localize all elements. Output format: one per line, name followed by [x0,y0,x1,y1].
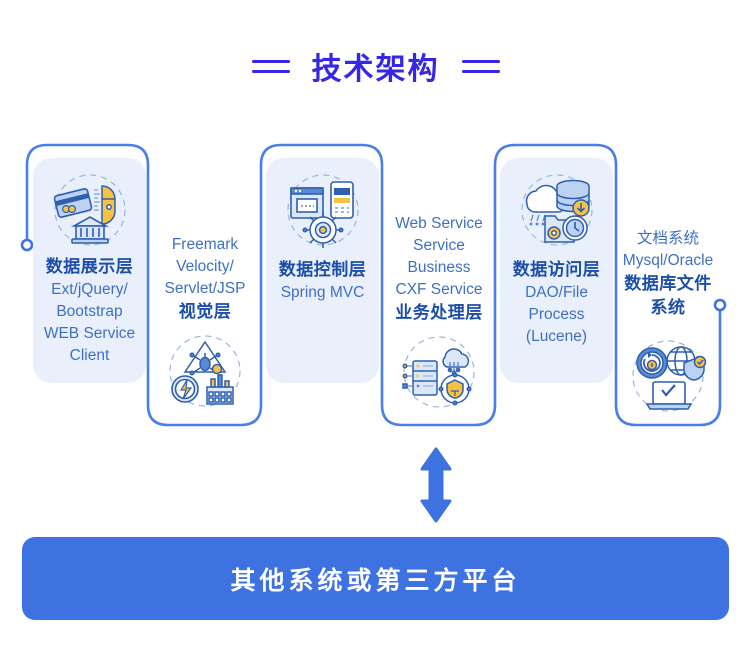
server-cloud-shield-icon [386,333,492,411]
column-line: Client [33,345,146,367]
bottom-bar-label: 其他系统或第三方平台 [230,561,520,597]
title-decoration-left-icon [252,60,290,73]
column-database[interactable]: 文档系统 Mysql/Oracle 数据库文件 系统 [620,218,716,418]
architecture-diagram: 技术架构 [0,0,751,652]
column-line: 文档系统 [620,228,716,250]
column-line: Service [386,235,492,257]
column-line: Business [386,257,492,279]
column-heading-presentation: 数据展示层 [33,255,146,279]
column-line: Bootstrap [33,301,146,323]
column-text-database: 文档系统 Mysql/Oracle 数据库文件 系统 [620,228,716,320]
connector-end-dot [715,300,725,310]
page-title: 技术架构 [0,44,751,88]
column-line: Spring MVC [266,282,379,304]
column-heading-business: 业务处理层 [386,301,492,325]
column-line: Web Service [386,213,492,235]
page-title-text: 技术架构 [312,44,440,88]
connector-start-dot [22,240,32,250]
column-line: Process [500,304,613,326]
column-line: Mysql/Oracle [620,250,716,272]
column-line: Freemark [152,234,258,256]
column-heading-view: 视觉层 [152,300,258,324]
monitor-mobile-gear-icon [266,172,379,250]
column-text-business: Web Service Service Business CXF Service… [386,213,492,325]
column-presentation[interactable]: 数据展示层 Ext/jQuery/ Bootstrap WEB Service … [33,158,146,383]
column-line: CXF Service [386,279,492,301]
title-decoration-right-icon [462,60,500,73]
column-text-control: 数据控制层 Spring MVC [266,258,379,304]
column-line: Servlet/JSP [152,278,258,300]
column-text-data-access: 数据访问层 DAO/File Process (Lucene) [500,258,613,348]
column-heading-database-line1: 数据库文件 [620,272,716,296]
column-control[interactable]: 数据控制层 Spring MVC [266,158,379,383]
column-heading-database-line2: 系统 [620,296,716,320]
bottom-bar-other-systems[interactable]: 其他系统或第三方平台 [22,537,729,620]
bank-card-security-icon [33,172,146,250]
cloud-database-clock-icon [500,170,613,252]
column-line: DAO/File [500,282,613,304]
column-text-presentation: 数据展示层 Ext/jQuery/ Bootstrap WEB Service … [33,255,146,367]
column-data-access[interactable]: 数据访问层 DAO/File Process (Lucene) [500,158,613,383]
column-line: Ext/jQuery/ [33,279,146,301]
column-line: Velocity/ [152,256,258,278]
column-line: (Lucene) [500,326,613,348]
column-business[interactable]: Web Service Service Business CXF Service… [386,203,492,418]
vertical-double-arrow [416,447,456,528]
column-line: WEB Service [33,323,146,345]
column-view[interactable]: Freemark Velocity/ Servlet/JSP 视觉层 [152,220,258,420]
column-heading-data-access: 数据访问层 [500,258,613,282]
column-text-view: Freemark Velocity/ Servlet/JSP 视觉层 [152,234,258,324]
column-heading-control: 数据控制层 [266,258,379,282]
bug-power-factory-icon [152,332,258,410]
shield-globe-laptop-icon [620,336,716,416]
